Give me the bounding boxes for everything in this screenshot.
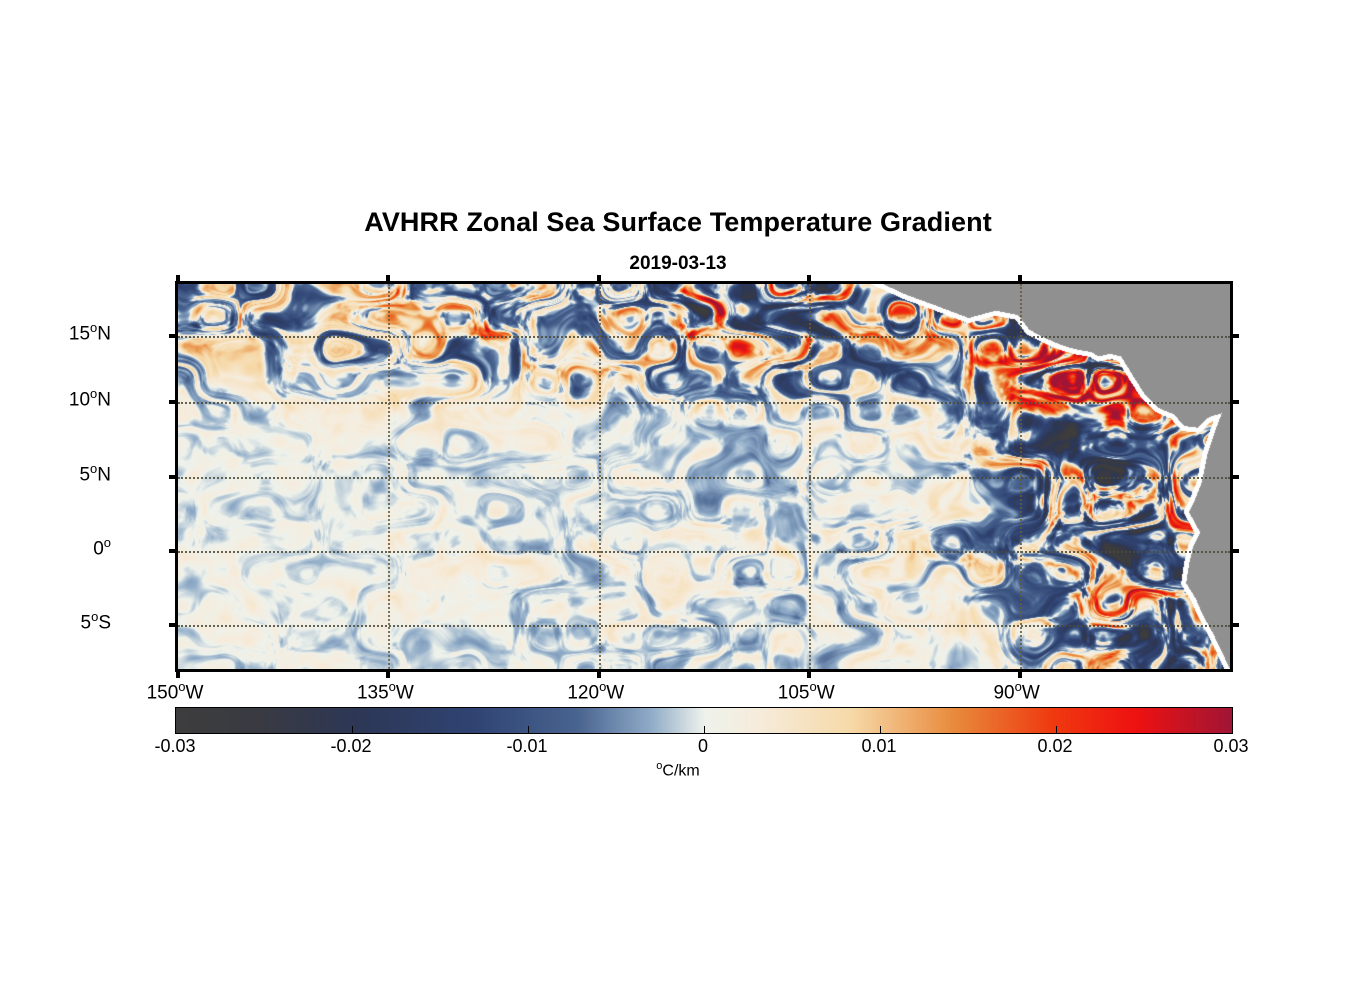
y-tick-0 — [169, 334, 178, 338]
hemisphere: W — [396, 682, 414, 703]
y-tick-label-1: 10oN — [0, 386, 111, 411]
gridline-horizontal-2 — [178, 477, 1230, 479]
hemisphere: W — [817, 682, 835, 703]
x-tick-2 — [597, 275, 601, 284]
gridline-vertical-2 — [599, 284, 601, 669]
hemisphere: W — [1022, 682, 1040, 703]
colorbar-tick-label-4: 0.01 — [819, 736, 939, 757]
x-tick-4 — [1018, 669, 1022, 678]
y-tick-value: 5 — [81, 612, 92, 633]
hemisphere: W — [606, 682, 624, 703]
colorbar-tick-5 — [1056, 726, 1057, 734]
x-tick-value: 105 — [778, 682, 810, 703]
x-tick-3 — [807, 275, 811, 284]
hemisphere: N — [97, 390, 111, 411]
x-tick-value: 150 — [147, 682, 179, 703]
y-tick-label-4: 5oS — [0, 609, 111, 634]
x-tick-label-0: 150oW — [105, 679, 245, 704]
colorbar-tick-3 — [704, 726, 705, 734]
degree-symbol: o — [1015, 679, 1022, 694]
hemisphere: N — [97, 323, 111, 344]
gridline-horizontal-4 — [178, 625, 1230, 627]
x-tick-1 — [386, 275, 390, 284]
x-tick-4 — [1018, 275, 1022, 284]
hemisphere: W — [186, 682, 204, 703]
y-tick-value: 0 — [93, 538, 104, 559]
figure-panel: AVHRR Zonal Sea Surface Temperature Grad… — [0, 0, 1356, 1000]
map-axes — [175, 281, 1233, 672]
y-tick-2 — [169, 475, 178, 479]
y-tick-3 — [169, 549, 178, 553]
hemisphere: S — [98, 612, 111, 633]
y-tick-value: 5 — [79, 464, 90, 485]
degree-symbol: o — [104, 535, 111, 550]
y-tick-3 — [1230, 549, 1239, 553]
y-tick-0 — [1230, 334, 1239, 338]
degree-symbol: o — [389, 679, 396, 694]
degree-symbol: o — [178, 679, 185, 694]
x-tick-label-1: 135oW — [315, 679, 455, 704]
x-tick-1 — [386, 669, 390, 678]
colorbar-tick-label-2: -0.01 — [467, 736, 587, 757]
degree-symbol: o — [809, 679, 816, 694]
gridline-vertical-1 — [388, 284, 390, 669]
y-tick-label-0: 15oN — [0, 320, 111, 345]
figure-subtitle: 2019-03-13 — [0, 253, 1356, 275]
colorbar-tick-2 — [528, 726, 529, 734]
colorbar-tick-label-5: 0.02 — [995, 736, 1115, 757]
unit-text: C/km — [662, 762, 699, 779]
colorbar-tick-label-1: -0.02 — [291, 736, 411, 757]
colorbar-tick-label-0: -0.03 — [115, 736, 235, 757]
y-tick-value: 10 — [69, 390, 90, 411]
y-tick-label-2: 5oN — [0, 461, 111, 486]
gridline-horizontal-0 — [178, 336, 1230, 338]
y-tick-2 — [1230, 475, 1239, 479]
x-tick-label-4: 90oW — [947, 679, 1087, 704]
x-tick-2 — [597, 669, 601, 678]
y-tick-value: 15 — [69, 323, 90, 344]
colorbar-tick-1 — [352, 726, 353, 734]
x-tick-3 — [807, 669, 811, 678]
figure-title: AVHRR Zonal Sea Surface Temperature Grad… — [0, 207, 1356, 238]
colorbar-tick-4 — [880, 726, 881, 734]
x-tick-0 — [176, 669, 180, 678]
gridline-vertical-4 — [1020, 284, 1022, 669]
y-tick-label-3: 0o — [0, 535, 111, 560]
colorbar-unit-label: oC/km — [0, 760, 1356, 780]
x-tick-value: 135 — [357, 682, 389, 703]
x-tick-label-2: 120oW — [526, 679, 666, 704]
y-tick-1 — [169, 400, 178, 404]
x-tick-0 — [176, 275, 180, 284]
hemisphere: N — [97, 464, 111, 485]
colorbar-tick-label-3: 0 — [643, 736, 763, 757]
x-tick-label-3: 105oW — [736, 679, 876, 704]
y-tick-4 — [169, 623, 178, 627]
gridline-horizontal-3 — [178, 551, 1230, 553]
colorbar-tick-label-6: 0.03 — [1171, 736, 1291, 757]
x-tick-value: 90 — [993, 682, 1014, 703]
x-tick-value: 120 — [567, 682, 599, 703]
gridline-horizontal-1 — [178, 402, 1230, 404]
colorbar — [175, 707, 1233, 734]
gridline-vertical-3 — [809, 284, 811, 669]
y-tick-1 — [1230, 400, 1239, 404]
y-tick-4 — [1230, 623, 1239, 627]
